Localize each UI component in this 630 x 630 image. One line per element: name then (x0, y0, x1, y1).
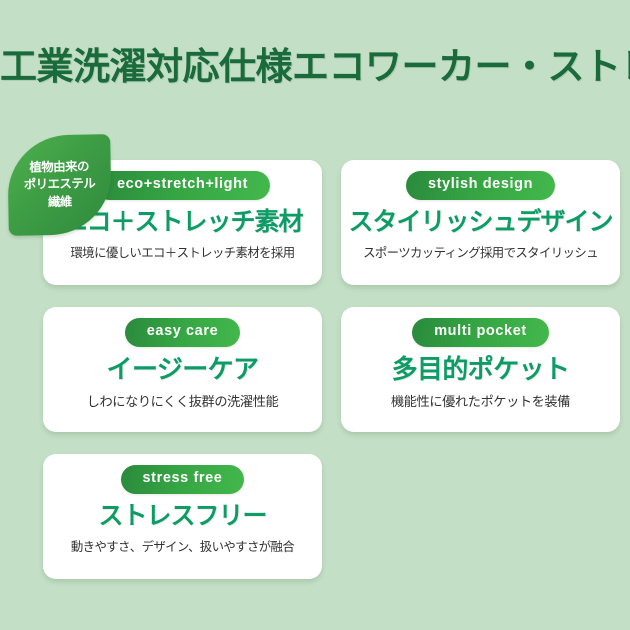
feature-card-stylish-design: stylish design スタイリッシュデザイン スポーツカッティング採用で… (341, 160, 620, 285)
card-badge: stylish design (406, 171, 555, 200)
feature-card-stress-free: stress free ストレスフリー 動きやすさ、デザイン、扱いやすさが融合 (43, 454, 322, 579)
card-description: 機能性に優れたポケットを装備 (391, 391, 570, 410)
feature-card-grid: eco+stretch+light エコ＋ストレッチ素材 環境に優しいエコ＋スト… (43, 160, 587, 579)
card-title: ストレスフリー (98, 500, 266, 533)
card-badge: eco+stretch+light (95, 171, 270, 200)
card-title: 多目的ポケット (392, 353, 570, 387)
card-title: スタイリッシュデザイン (348, 206, 612, 239)
card-description: 環境に優しいエコ＋ストレッチ素材を採用 (70, 243, 294, 261)
feature-card-easy-care: easy care イージーケア しわになりにくく抜群の洗濯性能 (43, 307, 322, 432)
card-description: スポーツカッティング採用でスタイリッシュ (363, 243, 598, 261)
card-description: 動きやすさ、デザイン、扱いやすさが融合 (71, 537, 294, 555)
card-title: イージーケア (107, 353, 259, 387)
card-badge: easy care (125, 318, 241, 347)
leaf-badge-line-2: ポリエステル (24, 176, 96, 195)
card-badge: multi pocket (412, 318, 549, 347)
card-description: しわになりにくく抜群の洗濯性能 (87, 391, 279, 410)
leaf-badge-line-1: 植物由来の (29, 158, 89, 177)
leaf-badge-line-3: 繊維 (48, 194, 72, 212)
page-title: 工業洗濯対応仕様エコワーカー・ストレッチ (0, 44, 630, 90)
card-badge: stress free (121, 465, 245, 494)
feature-card-multi-pocket: multi pocket 多目的ポケット 機能性に優れたポケットを装備 (341, 307, 620, 432)
